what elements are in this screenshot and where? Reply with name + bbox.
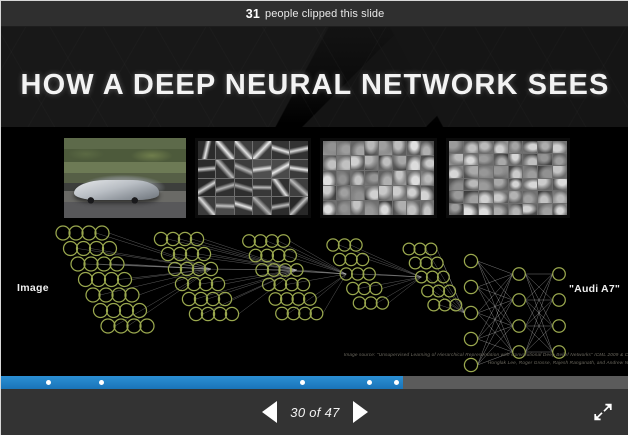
network-node <box>99 288 113 302</box>
feature-cell <box>379 156 392 170</box>
network-node <box>274 278 287 291</box>
feature-cell <box>337 171 350 185</box>
network-node <box>553 268 566 281</box>
network-node <box>82 226 96 240</box>
feature-cell <box>479 179 493 191</box>
feature-cell <box>553 154 567 166</box>
feature-cell <box>479 141 493 153</box>
network-node <box>428 299 440 311</box>
feature-cell <box>494 179 508 191</box>
network-node <box>112 288 126 302</box>
network-node <box>357 253 369 265</box>
network-node <box>287 307 300 320</box>
feature-cell <box>523 191 537 203</box>
network-node <box>277 235 290 248</box>
network-edge <box>351 245 422 277</box>
network-node <box>180 262 193 275</box>
network-node <box>92 273 106 287</box>
clip-count: 31 <box>246 7 260 21</box>
credit-line-2: Honglak Lee, Roger Grosse, Rajesh Rangan… <box>279 359 628 367</box>
feature-cell <box>253 197 270 215</box>
feature-cell <box>494 141 508 153</box>
network-node <box>272 249 285 262</box>
feature-cell <box>365 201 378 215</box>
network-node <box>266 235 279 248</box>
next-slide-button[interactable] <box>353 401 368 423</box>
network-node <box>338 239 350 251</box>
feature-cell <box>272 197 289 215</box>
feature-cell <box>479 204 493 216</box>
feature-cell <box>464 154 478 166</box>
feature-cell <box>253 179 270 197</box>
feature-cell <box>421 141 434 155</box>
slide-title: HOW A DEEP NEURAL NETWORK SEES <box>1 69 628 102</box>
network-node <box>254 235 267 248</box>
panel-layer2-features <box>320 138 438 218</box>
network-node <box>292 293 305 306</box>
feature-cell <box>449 166 463 178</box>
layer3-feature-grid <box>449 141 567 215</box>
feature-cell <box>553 191 567 203</box>
network-node <box>120 304 134 318</box>
feature-cell <box>464 179 478 191</box>
network-node <box>299 307 312 320</box>
network-edge <box>478 274 513 339</box>
feature-cell <box>449 191 463 203</box>
layer2-feature-grid <box>323 141 435 215</box>
feature-cell <box>235 141 252 159</box>
feature-cell <box>449 154 463 166</box>
network-node <box>403 243 415 255</box>
previous-slide-button[interactable] <box>262 401 277 423</box>
output-label: "Audi A7" <box>569 283 620 295</box>
feature-cell <box>479 191 493 203</box>
feature-cell <box>337 156 350 170</box>
feature-cell <box>351 141 364 155</box>
feature-cell <box>538 191 552 203</box>
feature-cell <box>538 179 552 191</box>
feature-cell <box>464 141 478 153</box>
network-node <box>513 294 526 307</box>
feature-cell <box>449 141 463 153</box>
feature-cell <box>337 186 350 200</box>
feature-cell <box>538 204 552 216</box>
feature-cell <box>379 201 392 215</box>
feature-cell <box>351 186 364 200</box>
feature-cell <box>253 160 270 178</box>
feature-cell <box>216 179 233 197</box>
network-node <box>225 307 238 320</box>
network-node <box>438 271 450 283</box>
feature-cell <box>290 141 307 159</box>
feature-cell <box>538 141 552 153</box>
network-node <box>243 235 256 248</box>
feature-cell <box>509 166 523 178</box>
feature-cell <box>407 171 420 185</box>
network-node <box>95 226 109 240</box>
feature-cell <box>393 141 406 155</box>
feature-cell <box>365 171 378 185</box>
feature-cell <box>379 171 392 185</box>
network-node <box>439 299 451 311</box>
network-node <box>56 226 70 240</box>
network-node <box>414 243 426 255</box>
feature-cell <box>509 204 523 216</box>
feature-cell <box>393 186 406 200</box>
network-node <box>211 277 224 290</box>
feature-cell <box>407 156 420 170</box>
network-node <box>182 292 195 305</box>
slide-counter: 30 of 47 <box>290 405 339 420</box>
panel-input-photo <box>64 138 186 218</box>
feature-cell <box>449 179 463 191</box>
network-node <box>444 285 456 297</box>
feature-cell <box>393 201 406 215</box>
feature-cell <box>421 201 434 215</box>
network-edge <box>204 239 297 270</box>
feature-cell <box>351 201 364 215</box>
feature-cell <box>216 160 233 178</box>
feature-cell <box>323 156 336 170</box>
feature-cell <box>421 186 434 200</box>
feature-cell <box>365 141 378 155</box>
feature-cell <box>523 154 537 166</box>
network-node <box>327 239 339 251</box>
network-node <box>345 253 357 265</box>
feature-cell <box>523 179 537 191</box>
progress-bar[interactable] <box>1 376 628 389</box>
feature-cell <box>272 179 289 197</box>
network-node <box>64 242 78 256</box>
feature-cell <box>365 156 378 170</box>
feature-cell <box>494 204 508 216</box>
fullscreen-button[interactable] <box>593 402 613 422</box>
feature-cell <box>538 154 552 166</box>
feature-cell <box>272 160 289 178</box>
network-edge <box>478 261 513 274</box>
feature-cell <box>351 171 364 185</box>
feature-cell <box>494 191 508 203</box>
network-node <box>427 271 439 283</box>
network-node <box>94 304 108 318</box>
network-node <box>269 293 282 306</box>
feature-cell <box>337 141 350 155</box>
feature-cell <box>235 179 252 197</box>
network-node <box>370 282 382 294</box>
network-node <box>185 247 198 260</box>
network-node <box>107 304 121 318</box>
feature-cell <box>379 186 392 200</box>
input-label: Image <box>17 282 49 294</box>
network-edge <box>96 233 211 269</box>
network-node <box>114 319 128 333</box>
feature-cell <box>290 197 307 215</box>
progress-fill <box>1 376 403 389</box>
network-edge <box>323 274 346 314</box>
network-node <box>213 307 226 320</box>
network-node <box>297 278 310 291</box>
feature-cell <box>464 191 478 203</box>
feature-cell <box>235 197 252 215</box>
visualization-panels <box>64 138 570 218</box>
network-node <box>86 288 100 302</box>
network-node <box>133 304 147 318</box>
feature-cell <box>464 204 478 216</box>
feature-cell <box>449 204 463 216</box>
feature-cell <box>509 154 523 166</box>
feature-cell <box>538 166 552 178</box>
feature-cell <box>523 141 537 153</box>
feature-cell <box>351 156 364 170</box>
feature-cell <box>323 186 336 200</box>
feature-cell <box>337 201 350 215</box>
feature-cell <box>198 197 215 215</box>
clip-text: people clipped this slide <box>265 8 384 20</box>
network-node <box>71 257 85 271</box>
network-node <box>513 268 526 281</box>
feature-cell <box>421 156 434 170</box>
feature-cell <box>553 166 567 178</box>
network-node <box>464 332 477 345</box>
network-node <box>105 273 119 287</box>
slide-viewer: 31 people clipped this slide HOW A DEEP … <box>0 0 628 435</box>
network-node <box>334 253 346 265</box>
network-node <box>431 257 443 269</box>
slide-canvas[interactable]: HOW A DEEP NEURAL NETWORK SEES Image "Au… <box>1 27 628 376</box>
panel-layer3-features <box>446 138 570 218</box>
feature-cell <box>198 141 215 159</box>
network-node <box>353 297 365 309</box>
network-node <box>189 307 202 320</box>
feature-cell <box>323 171 336 185</box>
feature-cell <box>479 166 493 178</box>
feature-cell <box>494 166 508 178</box>
network-node <box>310 307 323 320</box>
network-node <box>127 319 141 333</box>
network-node <box>420 257 432 269</box>
panel-layer1-filters <box>195 138 311 218</box>
network-node <box>201 307 214 320</box>
feature-cell <box>323 201 336 215</box>
feature-cell <box>479 154 493 166</box>
network-node <box>553 320 566 333</box>
credit-line-1: Image source: "Unsupervised Learning of … <box>279 351 628 359</box>
network-node <box>154 232 167 245</box>
feature-cell <box>216 141 233 159</box>
progress-marker[interactable] <box>367 380 372 385</box>
feature-cell <box>379 141 392 155</box>
network-node <box>347 282 359 294</box>
network-node <box>79 273 93 287</box>
feature-cell <box>553 141 567 153</box>
feature-cell <box>407 186 420 200</box>
feature-cell <box>407 201 420 215</box>
feature-cell <box>235 160 252 178</box>
network-node <box>464 254 477 267</box>
network-node <box>464 306 477 319</box>
feature-cell <box>509 179 523 191</box>
network-node <box>281 293 294 306</box>
network-node <box>513 320 526 333</box>
network-node <box>553 294 566 307</box>
progress-marker[interactable] <box>99 380 104 385</box>
network-node <box>350 239 362 251</box>
feature-cell <box>272 141 289 159</box>
fullscreen-icon <box>593 402 613 422</box>
feature-cell <box>494 154 508 166</box>
feature-cell <box>421 171 434 185</box>
network-node <box>433 285 445 297</box>
feature-cell <box>464 166 478 178</box>
feature-cell <box>253 141 270 159</box>
feature-cell <box>290 179 307 197</box>
network-node <box>101 319 115 333</box>
feature-cell <box>216 197 233 215</box>
network-node <box>365 297 377 309</box>
network-node <box>69 226 83 240</box>
feature-cell <box>198 179 215 197</box>
feature-cell <box>365 186 378 200</box>
feature-cell <box>553 179 567 191</box>
feature-cell <box>407 141 420 155</box>
network-node <box>376 297 388 309</box>
layer1-filter-grid <box>198 141 308 215</box>
feature-cell <box>553 204 567 216</box>
network-node <box>464 280 477 293</box>
network-node <box>425 243 437 255</box>
feature-cell <box>290 160 307 178</box>
progress-marker[interactable] <box>300 380 305 385</box>
network-edge <box>290 241 346 274</box>
network-node <box>140 319 154 333</box>
feature-cell <box>509 141 523 153</box>
network-node <box>422 285 434 297</box>
slide-navigation: 30 of 47 <box>1 389 628 435</box>
control-bar: 30 of 47 <box>1 389 628 435</box>
network-node <box>276 307 289 320</box>
feature-cell <box>523 204 537 216</box>
clip-banner: 31 people clipped this slide <box>1 1 628 27</box>
feature-cell <box>523 166 537 178</box>
feature-cell <box>198 160 215 178</box>
feature-cell <box>323 141 336 155</box>
network-node <box>125 288 139 302</box>
progress-marker[interactable] <box>46 380 51 385</box>
car-photo-image <box>64 138 186 218</box>
network-edge <box>208 270 297 299</box>
network-node <box>409 257 421 269</box>
feature-cell <box>393 156 406 170</box>
network-edge <box>199 254 297 270</box>
feature-cell <box>393 171 406 185</box>
feature-cell <box>509 191 523 203</box>
image-credit: Image source: "Unsupervised Learning of … <box>279 351 628 367</box>
network-edge <box>478 274 513 287</box>
